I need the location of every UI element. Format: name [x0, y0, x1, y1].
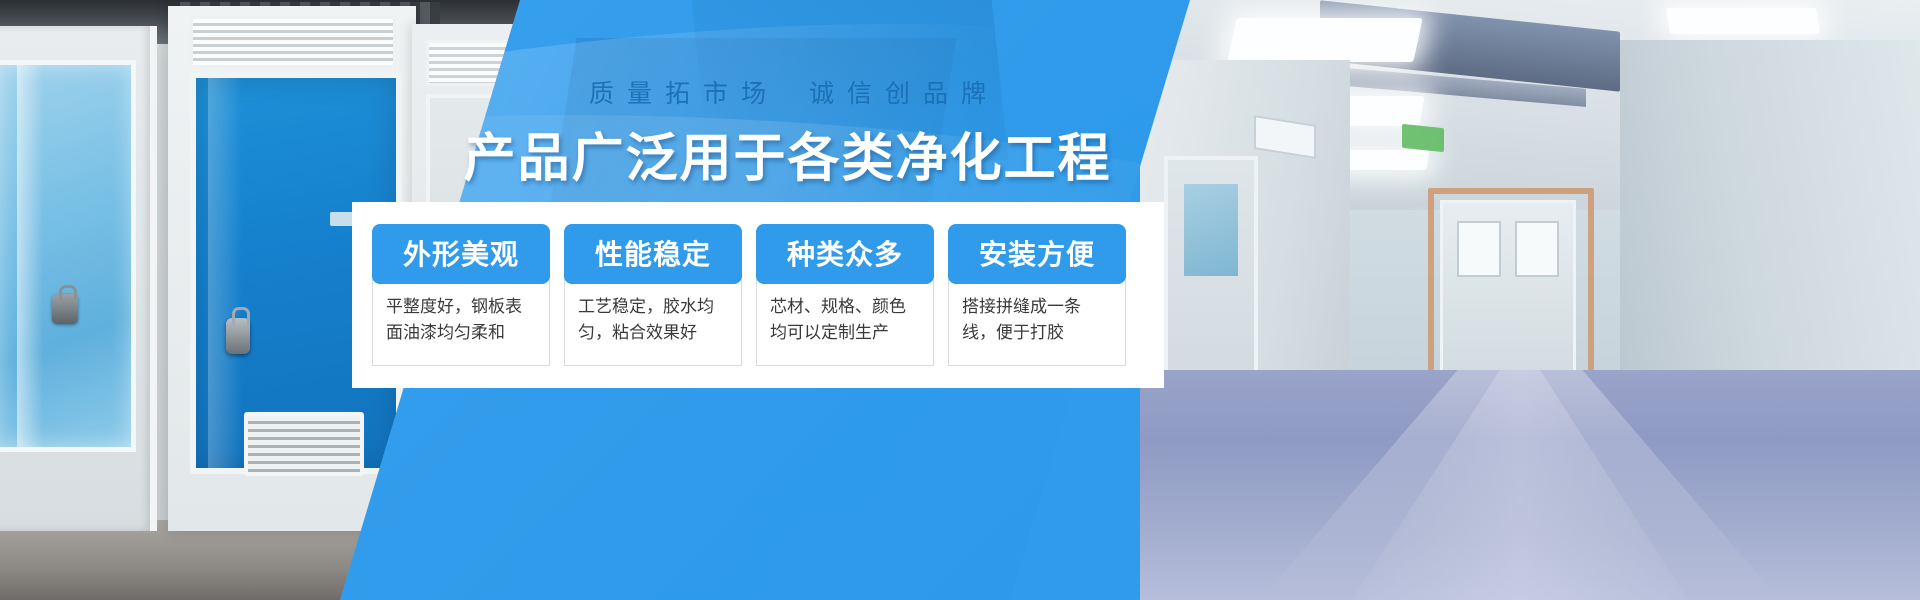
feature-card-title: 外形美观 — [372, 224, 550, 284]
cabin-top-vent — [190, 16, 396, 68]
feature-card-title: 安装方便 — [948, 224, 1126, 284]
cabin-glass-panel — [0, 60, 136, 452]
cabin-unit-left — [0, 26, 157, 531]
cabin-door-handle-icon — [226, 318, 250, 354]
promo-banner: 质量拓市场诚信创品牌 产品广泛用于各类净化工程 外形美观 平整度好，钢板表面油漆… — [0, 0, 1920, 600]
feature-card-body: 平整度好，钢板表面油漆均匀柔和 — [372, 278, 550, 366]
cabin-lower-vent — [244, 412, 364, 476]
right-product-photo — [1140, 0, 1920, 600]
feature-card-body: 搭接拼缝成一条线，便于打胶 — [948, 278, 1126, 366]
feature-card[interactable]: 种类众多 芯材、规格、颜色均可以定制生产 — [756, 224, 934, 366]
feature-card[interactable]: 安装方便 搭接拼缝成一条线，便于打胶 — [948, 224, 1126, 366]
feature-card[interactable]: 外形美观 平整度好，钢板表面油漆均匀柔和 — [372, 224, 550, 366]
feature-card-body: 芯材、规格、颜色均可以定制生产 — [756, 278, 934, 366]
feature-card[interactable]: 性能稳定 工艺稳定，胶水均匀，粘合效果好 — [564, 224, 742, 366]
corridor-double-door — [1440, 200, 1576, 386]
feature-card-title: 性能稳定 — [564, 224, 742, 284]
cabin-lock-icon — [52, 294, 78, 324]
feature-card-body: 工艺稳定，胶水均匀，粘合效果好 — [564, 278, 742, 366]
ceiling-light-1 — [1227, 18, 1422, 62]
exit-sign-icon — [1402, 124, 1444, 152]
ceiling-light-4 — [1666, 8, 1820, 34]
feature-card-panel: 外形美观 平整度好，钢板表面油漆均匀柔和 性能稳定 工艺稳定，胶水均匀，粘合效果… — [352, 202, 1164, 388]
feature-card-title: 种类众多 — [756, 224, 934, 284]
